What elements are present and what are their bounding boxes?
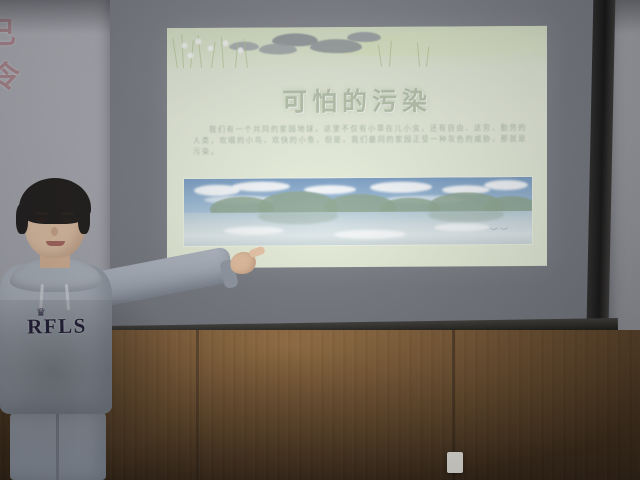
projected-slide: 可怕的污染 我们有一个共同的家园地球，这里不仅有小草在儿小虫，还有自由、这穷、勤…	[167, 26, 547, 268]
decor-flower	[187, 52, 194, 59]
board-handwriting-mark-2: 令	[0, 52, 20, 96]
decor-flower	[237, 47, 244, 54]
decor-flower	[222, 40, 229, 47]
decor-flower	[207, 45, 214, 52]
boy-hair-side	[16, 204, 28, 234]
boy-eyebrow	[35, 212, 48, 215]
decor-flower	[195, 38, 202, 45]
decor-grass	[181, 34, 184, 68]
decor-flower	[181, 42, 188, 49]
slide-body-text: 我们有一个共同的家园地球，这里不仅有小草在儿小虫，还有自由、这穷、勤劳的人类，欢…	[193, 122, 527, 158]
boy-leg-seam	[56, 412, 59, 480]
boy-mouth	[46, 241, 65, 246]
boy-nose	[51, 227, 58, 236]
decor-stone	[347, 32, 381, 42]
boy-eyebrow	[61, 212, 74, 215]
slide-photo: ︶ ︶	[183, 176, 533, 247]
decor-stone	[259, 43, 297, 54]
slide-decor-band	[167, 26, 547, 68]
classroom-photo: 己 令	[0, 0, 640, 480]
hoodie-logo-text: RFLS	[11, 313, 103, 340]
boy-hair-side	[78, 204, 90, 234]
wall-outlet[interactable]	[447, 452, 463, 473]
boy-eye	[36, 218, 47, 223]
slide-title: 可怕的污染	[167, 81, 547, 119]
photo-birds-icon: ︶ ︶	[490, 226, 508, 237]
student-pointing: ♛ RFLS	[0, 178, 214, 480]
boy-eye	[62, 218, 73, 223]
decor-grass	[172, 38, 178, 68]
